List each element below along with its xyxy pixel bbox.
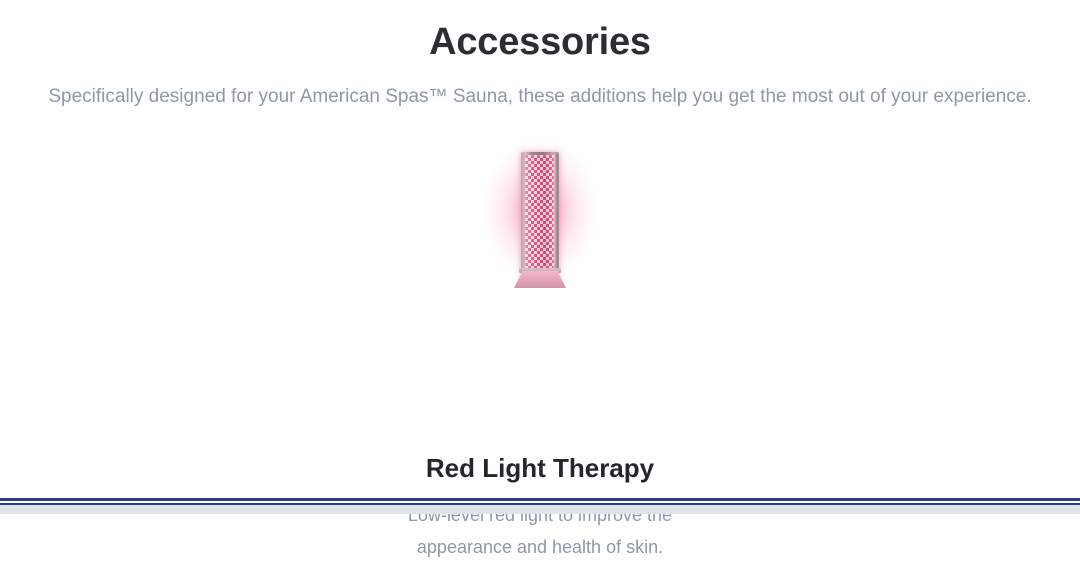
lamp-base-stand (514, 271, 566, 288)
product-card-red-light-therapy[interactable]: Red Light Therapy Low-level red light to… (0, 125, 1080, 305)
section-subtitle: Specifically designed for your American … (0, 84, 1080, 111)
accessories-section: Accessories Specifically designed for yo… (0, 0, 1080, 514)
lamp-side-edge (554, 154, 558, 271)
product-name: Red Light Therapy (0, 453, 1080, 484)
page-title: Accessories (0, 22, 1080, 64)
red-light-panel-icon (521, 152, 559, 274)
product-image (430, 125, 650, 305)
lamp-led-grid (525, 155, 554, 270)
footer-strip (0, 505, 1080, 514)
